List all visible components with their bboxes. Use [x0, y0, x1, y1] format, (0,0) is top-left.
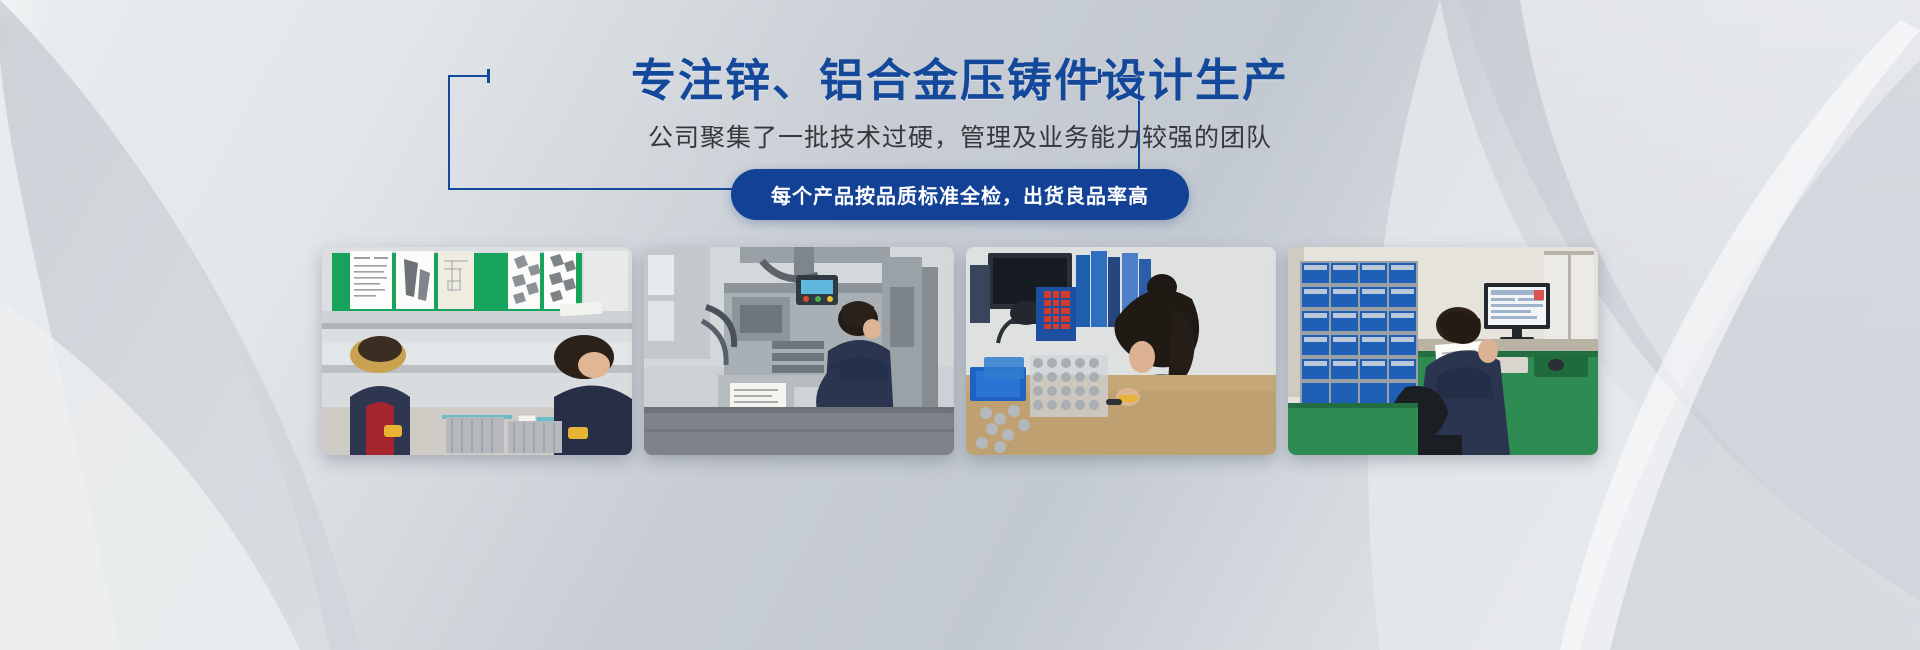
- photo-quality-check-workstation[interactable]: [966, 247, 1276, 455]
- promo-banner: 专注锌、铝合金压铸件设计生产 公司聚集了一批技术过硬，管理及业务能力较强的团队 …: [0, 0, 1920, 650]
- page-title: 专注锌、铝合金压铸件设计生产: [631, 58, 1289, 103]
- photo-strip: [0, 247, 1920, 457]
- quality-badge: 每个产品按品质标准全检，出货良品率高: [731, 169, 1189, 220]
- photo-office-stock-management[interactable]: [1288, 247, 1598, 455]
- page-subtitle: 公司聚集了一批技术过硬，管理及业务能力较强的团队: [0, 118, 1920, 154]
- photo-die-casting-machine-operator[interactable]: [644, 247, 954, 455]
- headline-row: 专注锌、铝合金压铸件设计生产: [0, 58, 1920, 103]
- photo-assembly-line-inspection[interactable]: [322, 247, 632, 455]
